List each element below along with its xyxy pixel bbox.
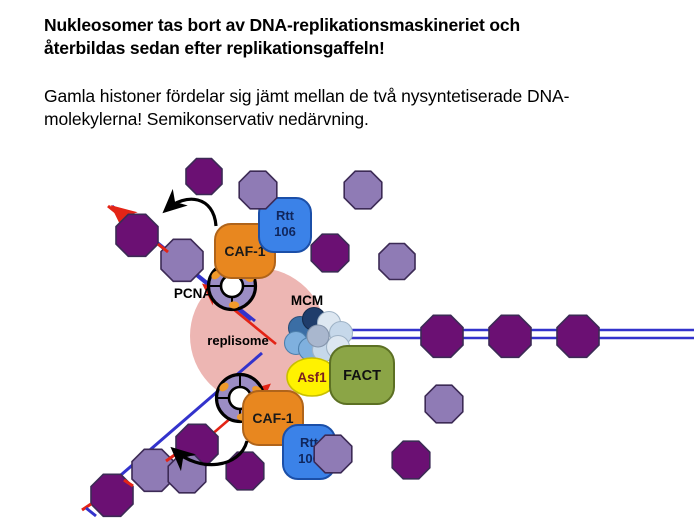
page-subtitle: Gamla histoner fördelar sig jämt mellan … bbox=[44, 60, 644, 131]
fact-label: FACT bbox=[343, 368, 381, 384]
caf1-top-label: CAF-1 bbox=[224, 243, 265, 259]
replisome-label: replisome bbox=[207, 333, 268, 348]
curved-arrow-top bbox=[166, 199, 216, 226]
pcna-label: PCNA bbox=[174, 286, 213, 301]
slide-text-block: Nukleosomer tas bort av DNA-replikations… bbox=[44, 14, 664, 131]
slide-canvas: Nukleosomer tas bort av DNA-replikations… bbox=[0, 0, 694, 520]
nucleosome-old bbox=[311, 234, 349, 272]
replication-fork-diagram: Asf1 FACT CAF-1 Rtt 106 CAF-1 bbox=[0, 148, 694, 520]
nucleosome-new bbox=[425, 385, 463, 423]
nucleosome-old bbox=[421, 315, 463, 357]
rtt106-top-label-line1: Rtt bbox=[276, 208, 295, 223]
rtt106-top-label-line2: 106 bbox=[274, 224, 296, 239]
nucleosome-old bbox=[186, 159, 222, 195]
nucleosome-old bbox=[116, 214, 158, 256]
nucleosome-new bbox=[379, 244, 415, 280]
nucleosome-old bbox=[557, 315, 599, 357]
page-title: Nukleosomer tas bort av DNA-replikations… bbox=[44, 14, 664, 60]
asf1-label: Asf1 bbox=[297, 370, 327, 385]
nucleosome-old bbox=[392, 441, 430, 479]
nucleosome-new bbox=[239, 171, 277, 209]
mcm-subunit bbox=[307, 325, 329, 347]
nucleosome-new bbox=[161, 239, 203, 281]
nucleosome-new bbox=[168, 455, 206, 493]
parental-nucleosome-group bbox=[421, 315, 599, 357]
nucleosome-new bbox=[344, 171, 382, 209]
nucleosome-old bbox=[489, 315, 531, 357]
body-line-2: molekylerna! Semikonservativ nedärvning. bbox=[44, 109, 369, 129]
body-line-1: Gamla histoner fördelar sig jämt mellan … bbox=[44, 86, 569, 106]
pcna-subunit-marker bbox=[229, 301, 239, 308]
nucleosome-new bbox=[314, 435, 352, 473]
nucleosome-old bbox=[226, 452, 264, 490]
mcm-label: MCM bbox=[291, 293, 323, 308]
headline-line-1: Nukleosomer tas bort av DNA-replikations… bbox=[44, 15, 520, 35]
headline-line-2: återbildas sedan efter replikationsgaffe… bbox=[44, 38, 385, 58]
fact-protein[interactable]: FACT bbox=[330, 346, 394, 404]
upper-strand-nucleosome-group bbox=[116, 214, 203, 281]
caf1-bottom-label: CAF-1 bbox=[252, 410, 293, 426]
